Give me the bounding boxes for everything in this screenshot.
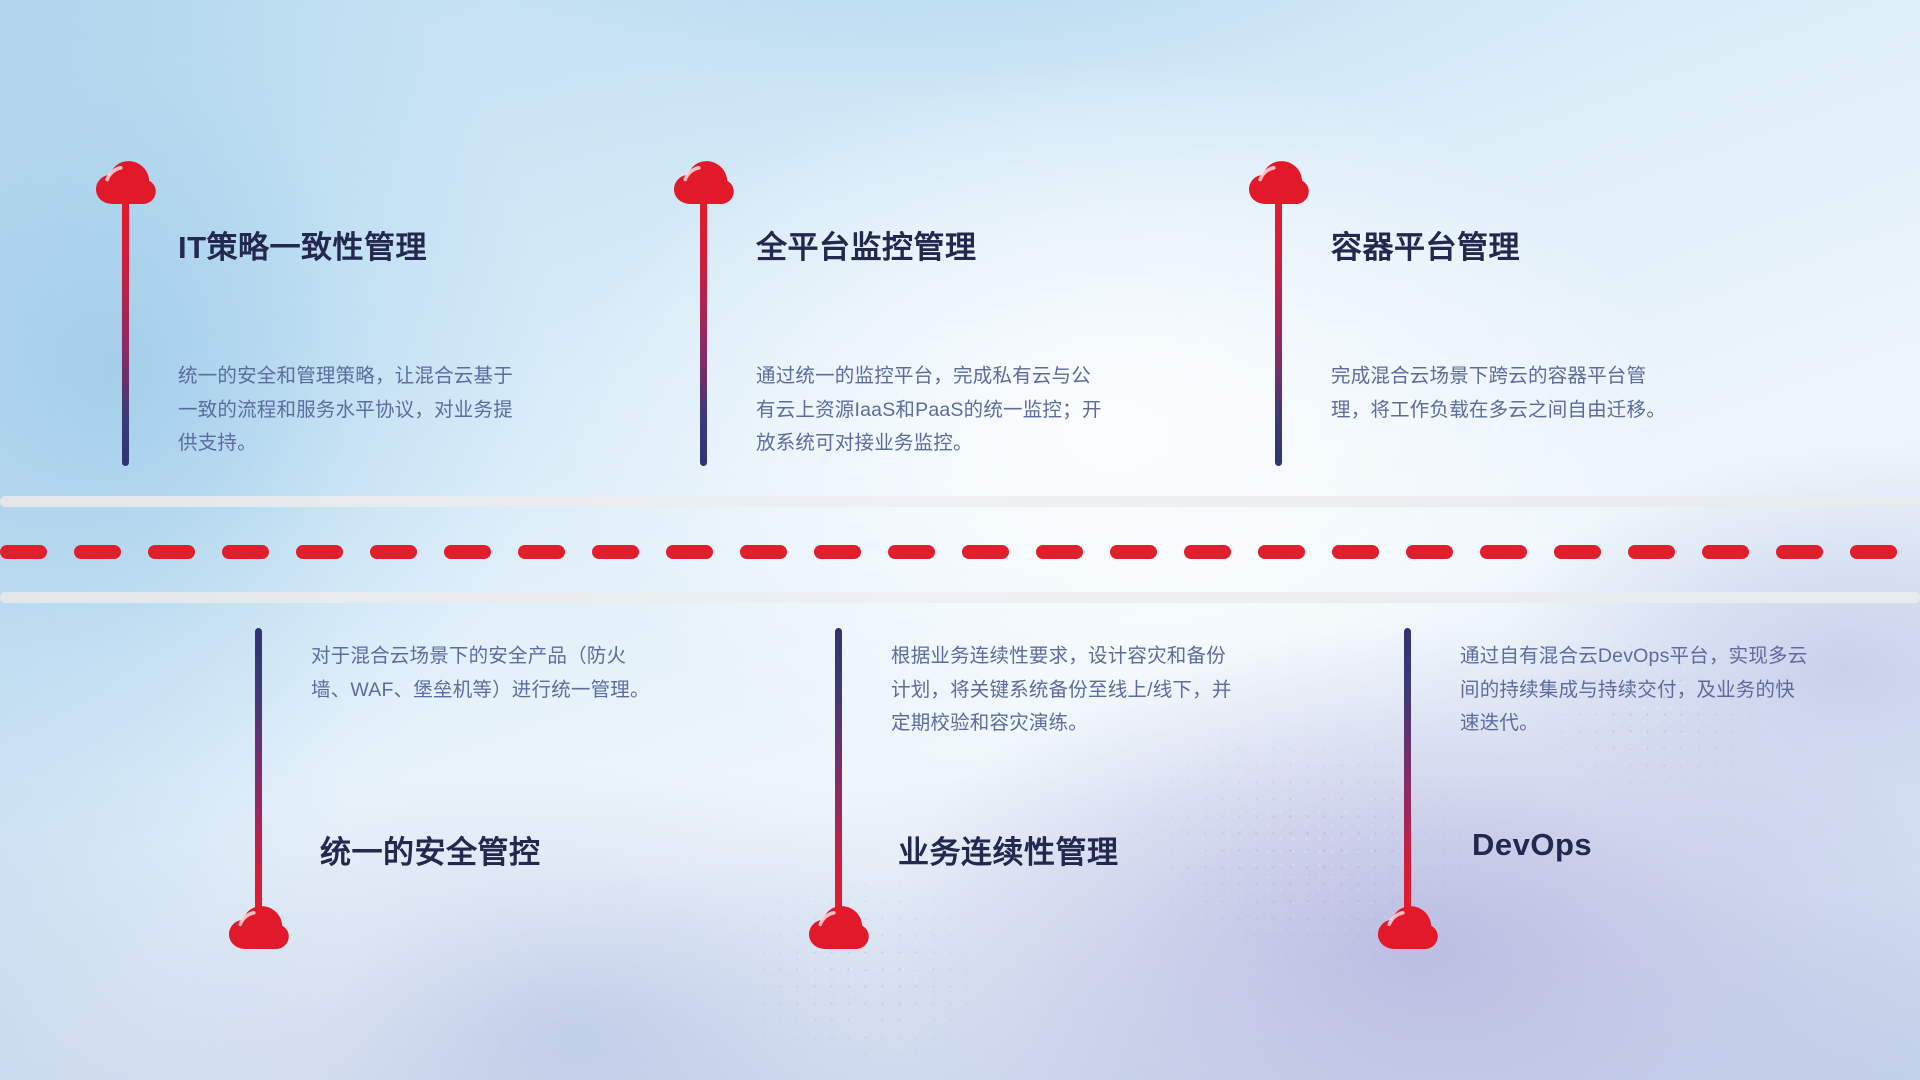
divider-dash [1702, 545, 1749, 559]
divider-dash [1776, 545, 1823, 559]
divider-dash [222, 545, 269, 559]
divider-dash [592, 545, 639, 559]
card-body-text: 对于混合云场景下的安全产品（防火墙、WAF、堡垒机等）进行统一管理。 [311, 640, 663, 707]
card-body-text: 完成混合云场景下跨云的容器平台管理，将工作负载在多云之间自由迁移。 [1331, 360, 1683, 427]
divider-dash [1480, 545, 1527, 559]
card-body-text: 统一的安全和管理策略，让混合云基于一致的流程和服务水平协议，对业务提供支持。 [178, 360, 530, 461]
divider-dash [296, 545, 343, 559]
divider-dash [1036, 545, 1083, 559]
connector-stem [835, 628, 842, 916]
connector-stem [122, 198, 129, 466]
card-body-text: 通过自有混合云DevOps平台，实现多云间的持续集成与持续交付，及业务的快速迭代… [1460, 640, 1812, 741]
card-body-text: 根据业务连续性要求，设计容灾和备份计划，将关键系统备份至线上/线下，并定期校验和… [891, 640, 1243, 741]
cloud-icon [1377, 905, 1439, 950]
connector-stem [1404, 628, 1411, 916]
card-heading: IT策略一致性管理 [178, 222, 427, 267]
divider-rail-bottom [0, 592, 1920, 603]
divider-dash [518, 545, 565, 559]
divider-rail-top [0, 496, 1920, 507]
card-heading: 全平台监控管理 [756, 222, 977, 267]
card-heading: 统一的安全管控 [320, 827, 541, 872]
card-heading: 业务连续性管理 [898, 827, 1119, 872]
divider-dash [962, 545, 1009, 559]
divider-dashed-line [0, 545, 1920, 559]
divider-dash [1332, 545, 1379, 559]
connector-stem [700, 198, 707, 466]
divider-dash [1406, 545, 1453, 559]
divider-dash [444, 545, 491, 559]
card-heading: DevOps [1472, 827, 1592, 863]
cloud-icon [228, 905, 290, 950]
connector-stem [255, 628, 262, 916]
divider-dash [814, 545, 861, 559]
divider-dash [1628, 545, 1675, 559]
divider-dash [888, 545, 935, 559]
divider-dash [1554, 545, 1601, 559]
cloud-icon [808, 905, 870, 950]
divider-dash [740, 545, 787, 559]
divider-dash [74, 545, 121, 559]
divider-dash [1110, 545, 1157, 559]
divider-dash [1850, 545, 1897, 559]
divider-dash [0, 545, 47, 559]
divider-dash [1258, 545, 1305, 559]
connector-stem [1275, 198, 1282, 466]
divider-dash [370, 545, 417, 559]
card-body-text: 通过统一的监控平台，完成私有云与公有云上资源IaaS和PaaS的统一监控；开放系… [756, 360, 1108, 461]
divider-dash [1184, 545, 1231, 559]
divider-dash [666, 545, 713, 559]
divider-dash [148, 545, 195, 559]
card-heading: 容器平台管理 [1331, 222, 1520, 267]
